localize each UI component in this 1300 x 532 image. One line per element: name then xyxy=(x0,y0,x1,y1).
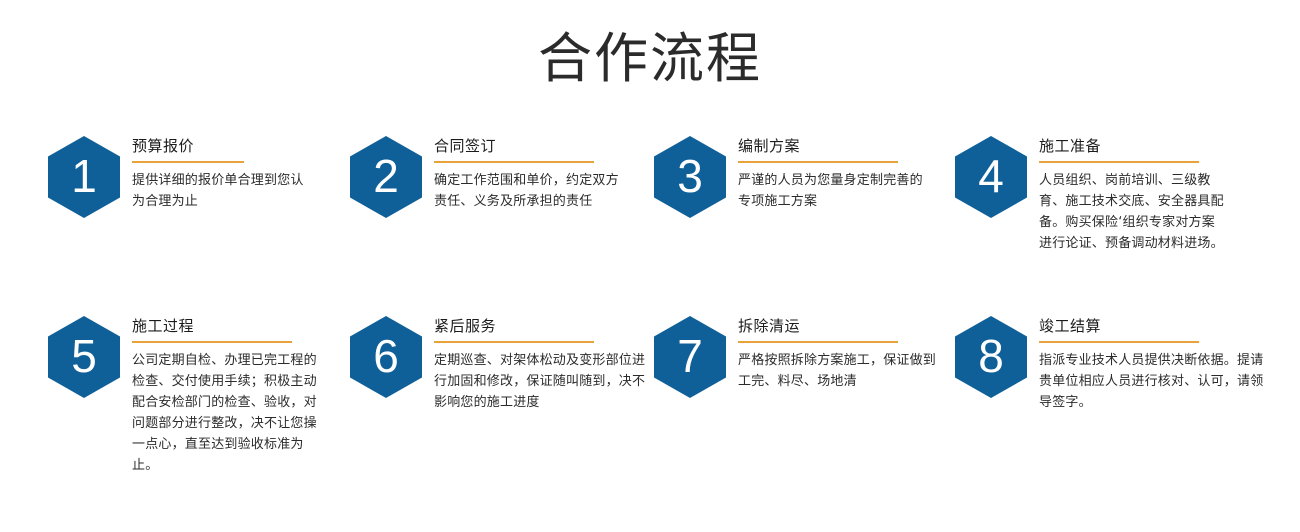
step-number-2: 2 xyxy=(350,136,422,218)
step-title-7: 拆除清运 xyxy=(738,316,944,336)
steps-row-2: 5 施工过程 公司定期自检、办理已完工程的检查、交付使用手续；积极主动配合安检部… xyxy=(0,312,1300,512)
step-rule-3 xyxy=(738,161,898,163)
step-number-8: 8 xyxy=(955,316,1027,398)
step-description-8: 指派专业技术人员提供决断依据。提请贵单位相应人员进行核对、认可，请领导签字。 xyxy=(1039,350,1271,413)
step-rule-5 xyxy=(132,341,292,343)
step-description-3: 严谨的人员为您量身定制完善的专项施工方案 xyxy=(738,170,924,212)
step-item-2[interactable]: 2 合同签订 确定工作范围和单价，约定双方责任、义务及所承担的责任 xyxy=(350,132,640,218)
step-number-badge-5: 5 xyxy=(48,316,120,398)
step-item-7[interactable]: 7 拆除清运 严格按照拆除方案施工，保证做到工完、料尽、场地清 xyxy=(654,312,944,398)
step-number-badge-8: 8 xyxy=(955,316,1027,398)
step-rule-2 xyxy=(434,161,594,163)
step-title-3: 编制方案 xyxy=(738,136,944,156)
step-title-1: 预算报价 xyxy=(132,136,338,156)
step-number-badge-2: 2 xyxy=(350,136,422,218)
step-number-badge-4: 4 xyxy=(955,136,1027,218)
step-text-5: 施工过程 公司定期自检、办理已完工程的检查、交付使用手续；积极主动配合安检部门的… xyxy=(132,312,338,476)
step-rule-8 xyxy=(1039,341,1199,343)
step-item-1[interactable]: 1 预算报价 提供详细的报价单合理到您认为合理为止 xyxy=(48,132,338,218)
step-item-5[interactable]: 5 施工过程 公司定期自检、办理已完工程的检查、交付使用手续；积极主动配合安检部… xyxy=(48,312,338,476)
step-number-1: 1 xyxy=(48,136,120,218)
step-text-7: 拆除清运 严格按照拆除方案施工，保证做到工完、料尽、场地清 xyxy=(738,312,944,392)
step-number-5: 5 xyxy=(48,316,120,398)
cooperation-process-infographic: 合作流程 1 预算报价 提供详细的报价单合理到您认为合理为止 2 xyxy=(0,0,1300,532)
step-title-6: 紧后服务 xyxy=(434,316,640,336)
step-description-1: 提供详细的报价单合理到您认为合理为止 xyxy=(132,170,310,212)
step-number-6: 6 xyxy=(350,316,422,398)
step-number-badge-1: 1 xyxy=(48,136,120,218)
step-title-2: 合同签订 xyxy=(434,136,640,156)
step-item-6[interactable]: 6 紧后服务 定期巡查、对架体松动及变形部位进行加固和修改，保证随叫随到，决不影… xyxy=(350,312,640,413)
step-rule-6 xyxy=(434,341,594,343)
step-rule-7 xyxy=(738,341,898,343)
step-description-5: 公司定期自检、办理已完工程的检查、交付使用手续；积极主动配合安检部门的检查、验收… xyxy=(132,350,318,476)
step-number-3: 3 xyxy=(654,136,726,218)
step-description-4: 人员组织、岗前培训、三级教育、施工技术交底、安全器具配备。购买保险‘组织专家对方… xyxy=(1039,170,1225,254)
step-description-2: 确定工作范围和单价，约定双方责任、义务及所承担的责任 xyxy=(434,170,620,212)
step-text-8: 竣工结算 指派专业技术人员提供决断依据。提请贵单位相应人员进行核对、认可，请领导… xyxy=(1039,312,1255,413)
step-description-7: 严格按照拆除方案施工，保证做到工完、料尽、场地清 xyxy=(738,350,946,392)
step-text-4: 施工准备 人员组织、岗前培训、三级教育、施工技术交底、安全器具配备。购买保险‘组… xyxy=(1039,132,1255,254)
step-rule-4 xyxy=(1039,161,1199,163)
step-text-2: 合同签订 确定工作范围和单价，约定双方责任、义务及所承担的责任 xyxy=(434,132,640,212)
step-item-8[interactable]: 8 竣工结算 指派专业技术人员提供决断依据。提请贵单位相应人员进行核对、认可，请… xyxy=(955,312,1255,413)
page-title: 合作流程 xyxy=(0,28,1300,90)
step-description-6: 定期巡查、对架体松动及变形部位进行加固和修改，保证随叫随到，决不影响您的施工进度 xyxy=(434,350,650,413)
steps-row-1: 1 预算报价 提供详细的报价单合理到您认为合理为止 2 合同签订 确定工作范围和… xyxy=(0,132,1300,312)
step-item-4[interactable]: 4 施工准备 人员组织、岗前培训、三级教育、施工技术交底、安全器具配备。购买保险… xyxy=(955,132,1255,254)
step-number-4: 4 xyxy=(955,136,1027,218)
step-number-badge-7: 7 xyxy=(654,316,726,398)
steps-grid: 1 预算报价 提供详细的报价单合理到您认为合理为止 2 合同签订 确定工作范围和… xyxy=(0,132,1300,512)
step-number-badge-3: 3 xyxy=(654,136,726,218)
step-text-6: 紧后服务 定期巡查、对架体松动及变形部位进行加固和修改，保证随叫随到，决不影响您… xyxy=(434,312,640,413)
step-item-3[interactable]: 3 编制方案 严谨的人员为您量身定制完善的专项施工方案 xyxy=(654,132,944,218)
step-title-8: 竣工结算 xyxy=(1039,316,1255,336)
step-number-7: 7 xyxy=(654,316,726,398)
step-title-5: 施工过程 xyxy=(132,316,338,336)
step-rule-1 xyxy=(132,161,244,163)
step-number-badge-6: 6 xyxy=(350,316,422,398)
step-title-4: 施工准备 xyxy=(1039,136,1255,156)
step-text-1: 预算报价 提供详细的报价单合理到您认为合理为止 xyxy=(132,132,338,212)
step-text-3: 编制方案 严谨的人员为您量身定制完善的专项施工方案 xyxy=(738,132,944,212)
